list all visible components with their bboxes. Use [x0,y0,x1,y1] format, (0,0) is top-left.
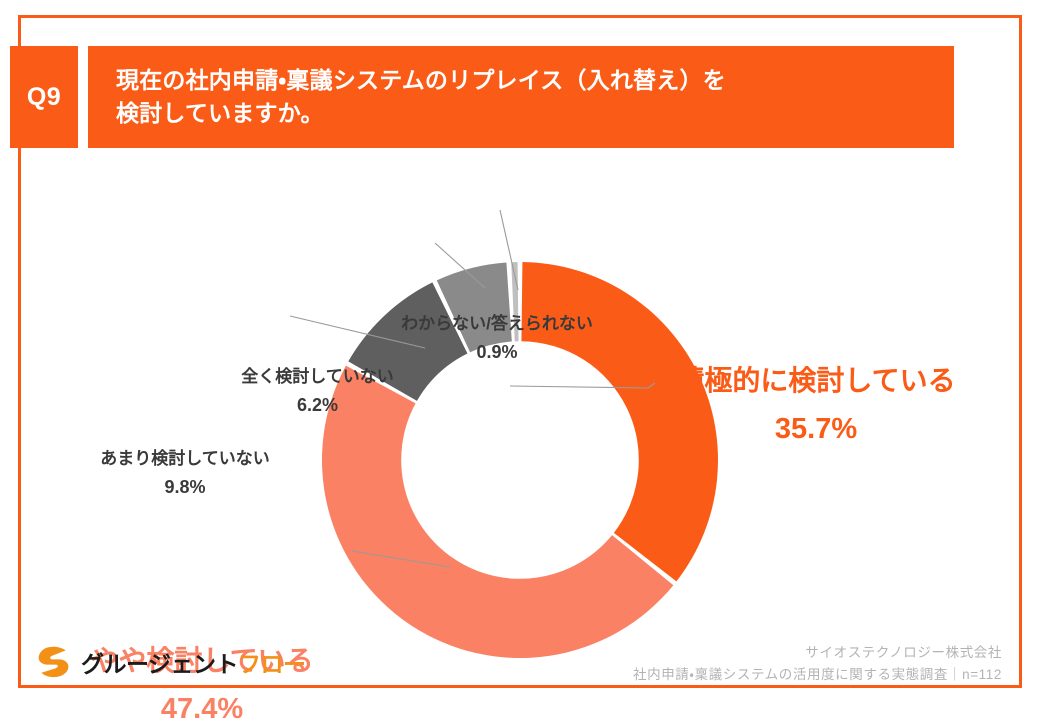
callout-notatall-value: 6.2% [210,393,425,417]
callout-notmuch: あまり検討していない 9.8% [60,448,310,499]
callout-positive-name: 積極的に検討している [636,362,996,400]
brand-logo-text: グルージェントフロー [81,645,306,679]
callout-positive-value: 35.7% [636,410,996,449]
donut-chart-area: 積極的に検討している 35.7% やや検討している 47.4% あまり検討してい… [0,150,1040,630]
brand-logo-text-orange: フロー [238,651,306,677]
callout-positive: 積極的に検討している 35.7% [636,362,996,449]
footer-company: サイオステクノロジー株式会社 [633,642,1002,664]
callout-notmuch-value: 9.8% [60,475,310,499]
footer-survey: 社内申請・稟議システムの活用度に関する実態調査｜n=112 [633,664,1002,686]
question-number-badge: Q9 [10,46,78,148]
gluegent-swoosh-icon [36,645,72,679]
slide-root: Q9 現在の社内申請・稟議システムのリプレイス（入れ替え）を 検討していますか。… [0,0,1040,720]
callout-notatall: 全く検討していない 6.2% [210,366,425,417]
callout-somewhat-value: 47.4% [42,690,362,720]
question-title-bar: 現在の社内申請・稟議システムのリプレイス（入れ替え）を 検討していますか。 [88,46,954,148]
brand-logo: グルージェントフロー [36,645,306,679]
callout-unknown-name: わからない/答えられない [382,313,612,336]
question-number-label: Q9 [27,83,61,112]
question-title-text: 現在の社内申請・稟議システムのリプレイス（入れ替え）を 検討していますか。 [88,64,726,131]
brand-logo-text-dark: グルージェント [81,651,238,677]
footer-credit: サイオステクノロジー株式会社 社内申請・稟議システムの活用度に関する実態調査｜n… [633,642,1002,687]
callout-unknown-value: 0.9% [382,340,612,364]
callout-notmuch-name: あまり検討していない [60,448,310,471]
callout-notatall-name: 全く検討していない [210,366,425,389]
callout-unknown: わからない/答えられない 0.9% [382,313,612,364]
